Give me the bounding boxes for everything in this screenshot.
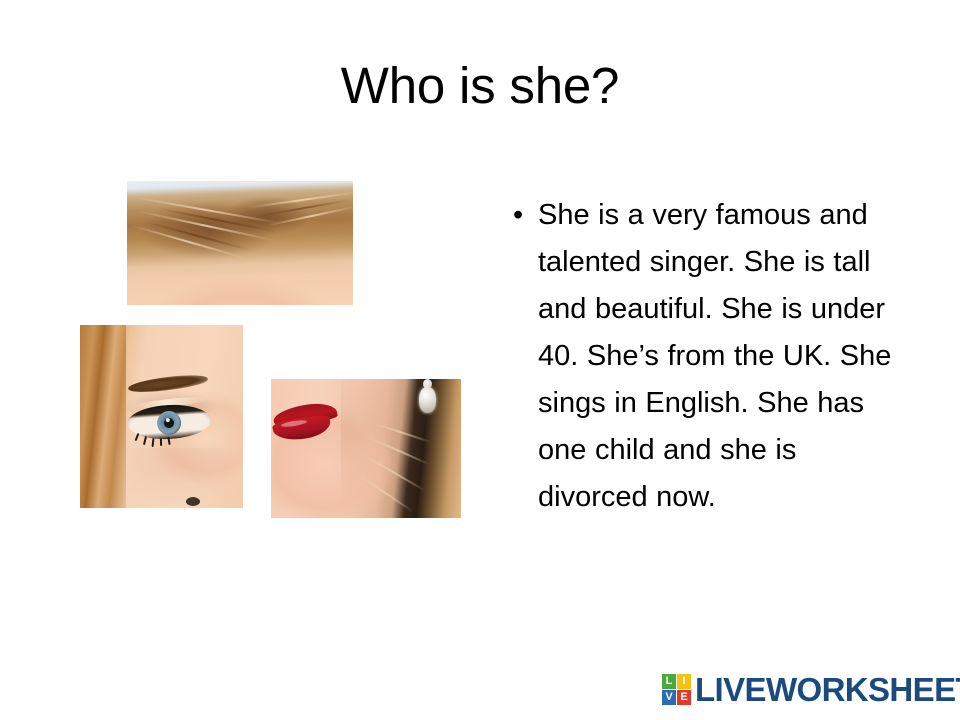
logo-cell-v: V [662,690,676,705]
bullet-item: • She is a very famous and talented sing… [508,192,908,521]
slide-canvas: Who is she? [0,0,960,720]
hair-forehead-crop [127,181,353,305]
liveworksheets-wordmark: LIVEWORKSHEETS [695,674,960,705]
bullet-item-text: She is a very famous and talented singer… [538,192,908,521]
body-text-block: • She is a very famous and talented sing… [508,192,908,521]
logo-cell-l: L [662,674,676,689]
page-title: Who is she? [0,57,960,115]
lips-ear-crop [271,379,461,518]
bullet-point-icon: • [508,192,538,239]
logo-cell-e: E [677,690,691,705]
logo-cell-i: I [677,674,691,689]
liveworksheets-mark-icon: L I V E [662,674,691,705]
liveworksheets-logo[interactable]: L I V E LIVEWORKSHEETS [662,674,960,705]
eye-crop [80,325,243,508]
